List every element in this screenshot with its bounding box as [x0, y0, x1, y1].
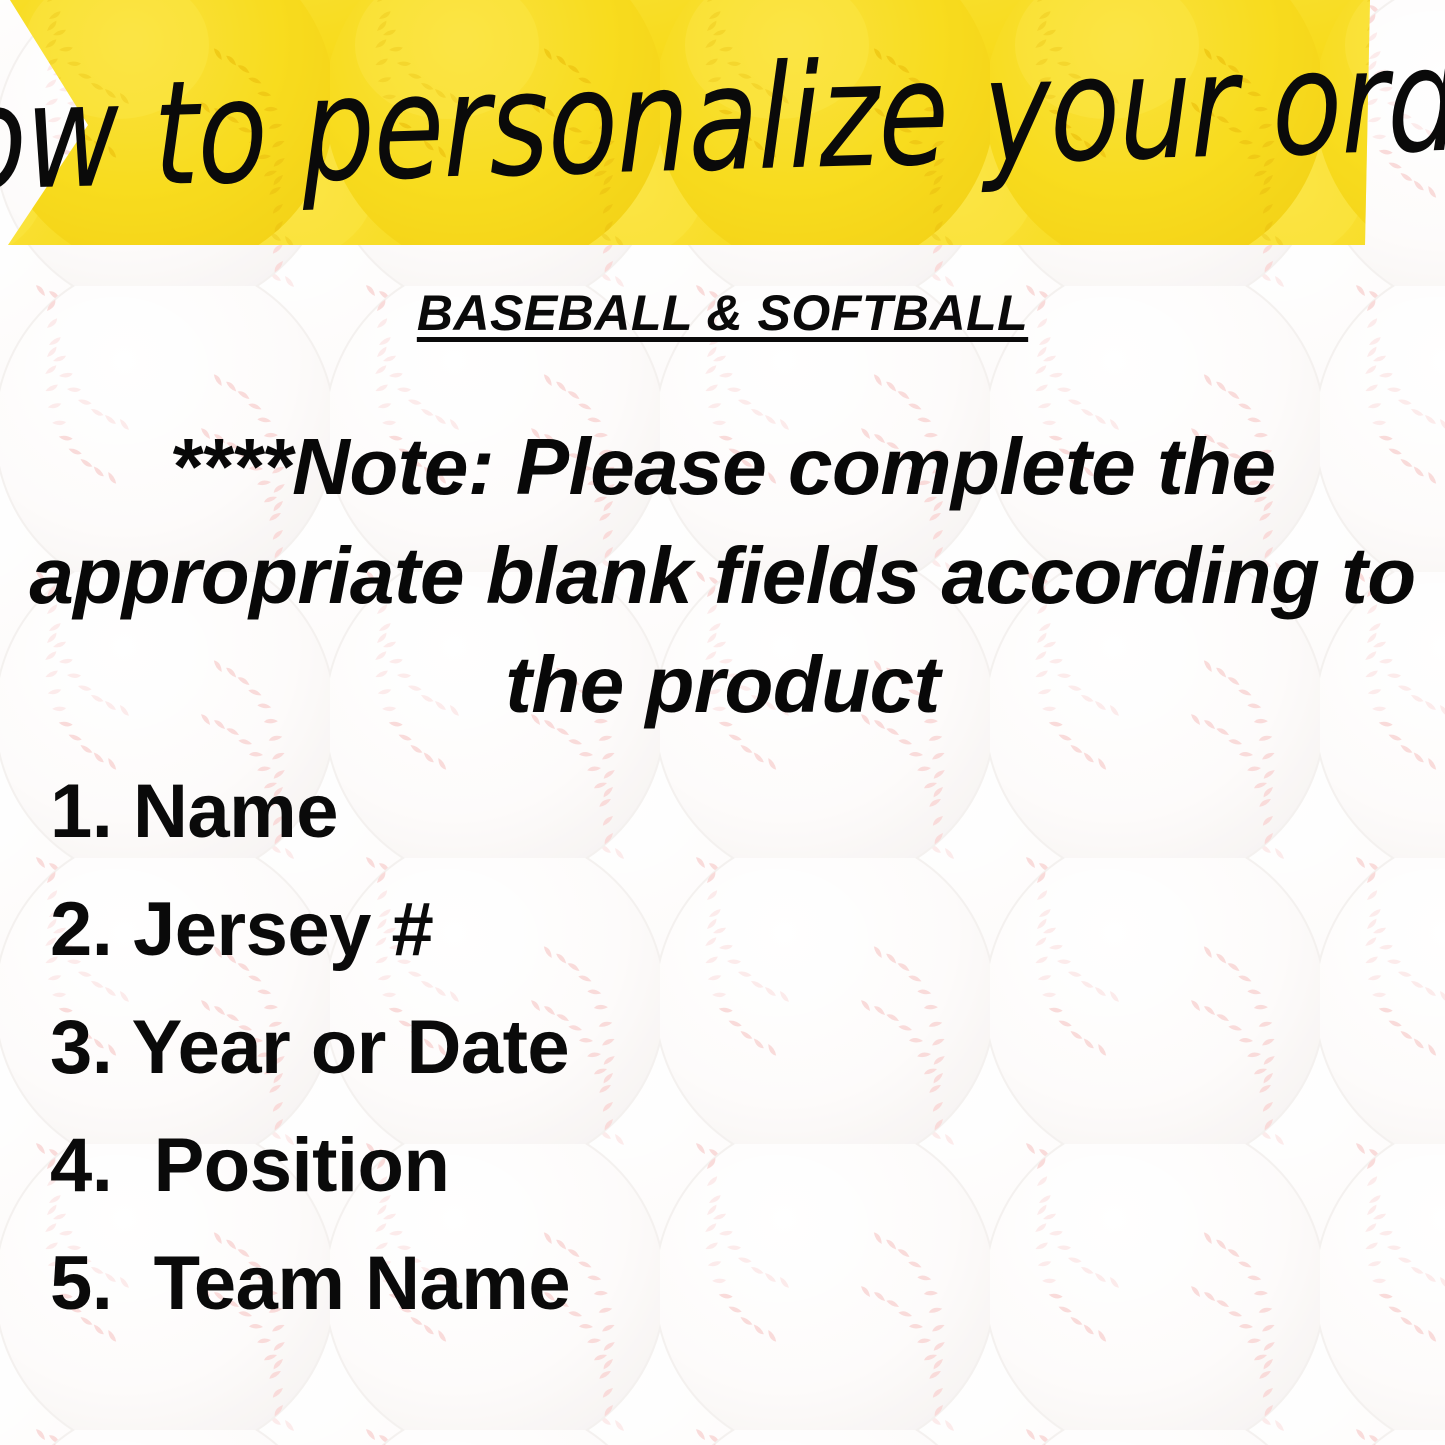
- list-item: 3. Year or Date: [50, 989, 1150, 1107]
- subheading-text: BASEBALL & SOFTBALL: [417, 285, 1028, 341]
- list-item: 1. Name: [50, 753, 1150, 871]
- personalization-field-list: 1. Name 2. Jersey # 3. Year or Date 4. P…: [50, 753, 1150, 1343]
- subheading: BASEBALL & SOFTBALL: [0, 286, 1445, 341]
- note-block: ****Note: Please complete the appropriat…: [18, 413, 1427, 739]
- content-area: BASEBALL & SOFTBALL ****Note: Please com…: [0, 0, 1445, 1445]
- list-item: 5. Team Name: [50, 1225, 1150, 1343]
- personalization-instructions-graphic: How to personalize your order BASEBALL &…: [0, 0, 1445, 1445]
- list-item: 2. Jersey #: [50, 871, 1150, 989]
- list-item: 4. Position: [50, 1107, 1150, 1225]
- note-text: ****Note: Please complete the appropriat…: [29, 422, 1415, 729]
